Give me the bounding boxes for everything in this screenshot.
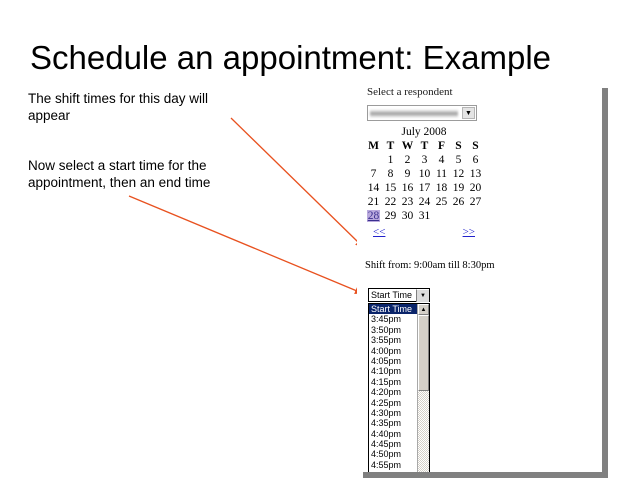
calendar-month-label: July 2008 <box>365 126 483 138</box>
calendar-day[interactable]: 27 <box>467 195 484 209</box>
calendar-weekday: T <box>382 140 399 153</box>
calendar-day-selected[interactable]: 28 <box>365 209 382 223</box>
start-time-combo-value: Start Time <box>369 290 416 300</box>
calendar-widget: July 2008 M T W T F S S 1 2 3 <box>365 126 484 242</box>
start-time-combobox[interactable]: Start Time ▼ <box>368 288 430 302</box>
calendar-day[interactable]: 15 <box>382 181 399 195</box>
calendar-day[interactable]: 7 <box>365 167 382 181</box>
list-item[interactable]: 4:05pm <box>369 356 417 366</box>
calendar-day <box>365 153 382 167</box>
calendar-day[interactable]: 2 <box>399 153 416 167</box>
list-item[interactable]: 3:55pm <box>369 335 417 345</box>
page-title: Schedule an appointment: Example <box>30 38 610 78</box>
calendar-day[interactable]: 19 <box>450 181 467 195</box>
calendar-day[interactable]: 14 <box>365 181 382 195</box>
list-item[interactable]: 3:50pm <box>369 325 417 335</box>
listbox-scrollbar[interactable]: ▲ <box>417 304 429 472</box>
list-item[interactable]: 4:55pm <box>369 460 417 470</box>
list-item[interactable]: 4:20pm <box>369 387 417 397</box>
calendar-day <box>467 209 484 223</box>
calendar-grid: M T W T F S S 1 2 3 4 5 6 <box>365 140 484 223</box>
calendar-day[interactable]: 29 <box>382 209 399 223</box>
list-item[interactable]: 4:35pm <box>369 418 417 428</box>
list-item[interactable]: 4:00pm <box>369 346 417 356</box>
calendar-day[interactable]: 8 <box>382 167 399 181</box>
calendar-week-row: 14 15 16 17 18 19 20 <box>365 181 484 195</box>
list-item[interactable]: 4:30pm <box>369 408 417 418</box>
shift-hours-text: Shift from: 9:00am till 8:30pm <box>365 260 495 271</box>
calendar-day <box>450 209 467 223</box>
calendar-week-row: 28 29 30 31 <box>365 209 484 223</box>
respondent-selected-value <box>370 109 458 118</box>
chevron-down-icon[interactable]: ▼ <box>416 289 429 302</box>
calendar-day[interactable]: 11 <box>433 167 450 181</box>
list-item[interactable]: 4:15pm <box>369 377 417 387</box>
arrow-to-start-time <box>129 196 357 291</box>
arrow-to-calendar <box>231 118 359 243</box>
list-item[interactable]: 4:50pm <box>369 449 417 459</box>
calendar-day[interactable]: 24 <box>416 195 433 209</box>
start-time-option-list[interactable]: Start Time 3:45pm 3:50pm 3:55pm 4:00pm 4… <box>369 304 417 472</box>
calendar-day[interactable]: 21 <box>365 195 382 209</box>
list-item[interactable]: 4:40pm <box>369 429 417 439</box>
calendar-day[interactable]: 31 <box>416 209 433 223</box>
chevron-down-icon[interactable]: ▼ <box>462 107 475 119</box>
calendar-weekday: S <box>450 140 467 153</box>
calendar-weekday: M <box>365 140 382 153</box>
calendar-day[interactable]: 17 <box>416 181 433 195</box>
calendar-week-row: 1 2 3 4 5 6 <box>365 153 484 167</box>
calendar-day[interactable]: 20 <box>467 181 484 195</box>
calendar-day[interactable]: 3 <box>416 153 433 167</box>
calendar-day[interactable]: 26 <box>450 195 467 209</box>
calendar-day[interactable]: 12 <box>450 167 467 181</box>
triangle-up-icon[interactable]: ▲ <box>418 304 429 315</box>
calendar-prev-month-link[interactable]: << <box>373 226 385 238</box>
calendar-week-row: 21 22 23 24 25 26 27 <box>365 195 484 209</box>
list-item[interactable]: 4:45pm <box>369 439 417 449</box>
scrollbar-thumb[interactable] <box>418 315 429 391</box>
respondent-select[interactable]: ▼ <box>367 105 477 121</box>
calendar-day[interactable]: 6 <box>467 153 484 167</box>
list-item[interactable]: 4:10pm <box>369 366 417 376</box>
calendar-day[interactable]: 1 <box>382 153 399 167</box>
calendar-day[interactable]: 16 <box>399 181 416 195</box>
calendar-weekday-row: M T W T F S S <box>365 140 484 153</box>
calendar-weekday: T <box>416 140 433 153</box>
calendar-next-month-link[interactable]: >> <box>463 226 475 238</box>
calendar-navigation: << >> <box>365 226 483 242</box>
calendar-day[interactable]: 18 <box>433 181 450 195</box>
calendar-day[interactable]: 4 <box>433 153 450 167</box>
calendar-day[interactable]: 30 <box>399 209 416 223</box>
calendar-day[interactable]: 5 <box>450 153 467 167</box>
calendar-day[interactable]: 9 <box>399 167 416 181</box>
calendar-weekday: W <box>399 140 416 153</box>
calendar-day[interactable]: 10 <box>416 167 433 181</box>
calendar-day[interactable]: 22 <box>382 195 399 209</box>
callout-text-select-start-time: Now select a start time for the appointm… <box>28 157 240 191</box>
list-item[interactable]: 4:25pm <box>369 398 417 408</box>
calendar-day-selected-label: 28 <box>367 210 381 222</box>
calendar-day <box>433 209 450 223</box>
calendar-day[interactable]: 23 <box>399 195 416 209</box>
list-item[interactable]: Start Time <box>369 304 417 314</box>
calendar-weekday: S <box>467 140 484 153</box>
callout-text-shift-times: The shift times for this day will appear <box>28 90 238 124</box>
start-time-listbox[interactable]: Start Time 3:45pm 3:50pm 3:55pm 4:00pm 4… <box>368 303 430 472</box>
embedded-screenshot: Select a respondent ▼ July 2008 M T W T … <box>357 82 602 472</box>
calendar-day[interactable]: 25 <box>433 195 450 209</box>
calendar-week-row: 7 8 9 10 11 12 13 <box>365 167 484 181</box>
list-item[interactable]: 3:45pm <box>369 314 417 324</box>
calendar-day[interactable]: 13 <box>467 167 484 181</box>
calendar-weekday: F <box>433 140 450 153</box>
respondent-label: Select a respondent <box>367 86 453 98</box>
